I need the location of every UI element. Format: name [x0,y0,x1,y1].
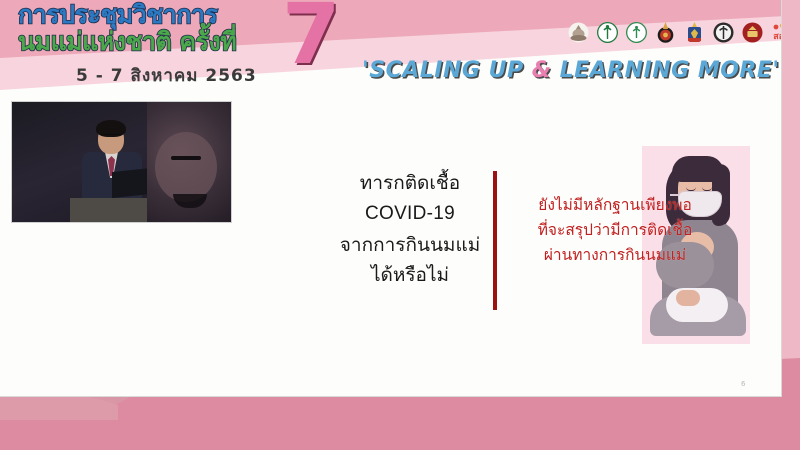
answer-line-1: ยังไม่มีหลักฐานเพียงพอ [500,193,730,218]
baby-mouth [173,194,207,208]
slide-header-banner: การประชุมวิชาการ นมแม่แห่งชาติ ครั้งที่ … [0,0,781,96]
answer-line-3: ผ่านทางการกินนมแม่ [500,243,730,268]
answer-text-block: ยังไม่มีหลักฐานเพียงพอ ที่จะสรุปว่ามีการ… [500,193,730,268]
question-line-3: จากการกินนมแม่ [330,230,490,261]
answer-line-2: ที่จะสรุปว่ามีการติดเชื้อ [500,218,730,243]
royal-emblem-logo [566,22,590,50]
speaker-glasses-icon [100,134,122,140]
slide-number: 6 [741,380,745,388]
medical-council-logo [711,22,735,50]
baby-eye [171,156,201,160]
presentation-slide: การประชุมวิชาการ นมแม่แห่งชาติ ครั้งที่ … [0,0,782,397]
vertical-divider [493,171,497,310]
question-line-4: ได้หรือไม่ [330,260,490,291]
question-line-2: COVID-19 [330,199,490,230]
edition-number: 7 [282,0,340,76]
national-garuda-logo [682,22,706,50]
conference-date: 5 - 7 สิงหาคม 2563 [76,62,257,89]
mother-hand [676,290,700,306]
conference-title-line1: การประชุมวิชาการ [18,2,318,27]
thai-royal-crest-logo [653,22,677,50]
tagline-ampersand: & [532,58,552,83]
baby-closeup-overlay [147,102,231,222]
conference-tagline: 'SCALING UP & LEARNING MORE' [362,58,780,83]
ministry-public-health-logo [595,22,619,50]
baby-face [155,132,217,202]
health-department-logo [624,22,648,50]
conference-speaker-video[interactable] [11,101,232,223]
screenshot-stage: การประชุมวิชาการ นมแม่แห่งชาติ ครั้งที่ … [0,0,800,450]
speaker-laptop [112,168,152,198]
svg-text:สสส: สสส [773,32,781,42]
question-text-block: ทารกติดเชื้อ COVID-19 จากการกินนมแม่ ได้… [330,168,490,291]
red-seal-logo [740,22,764,50]
organiser-logos: สสส [566,22,781,50]
thaihealth-sss-logo: สสส [769,22,781,50]
tagline-part-2: LEARNING MORE' [551,58,779,83]
conference-title: การประชุมวิชาการ นมแม่แห่งชาติ ครั้งที่ [18,2,318,54]
tagline-part-1: 'SCALING UP [362,58,532,83]
conference-title-line2: นมแม่แห่งชาติ ครั้งที่ [18,29,318,54]
question-line-1: ทารกติดเชื้อ [330,168,490,199]
